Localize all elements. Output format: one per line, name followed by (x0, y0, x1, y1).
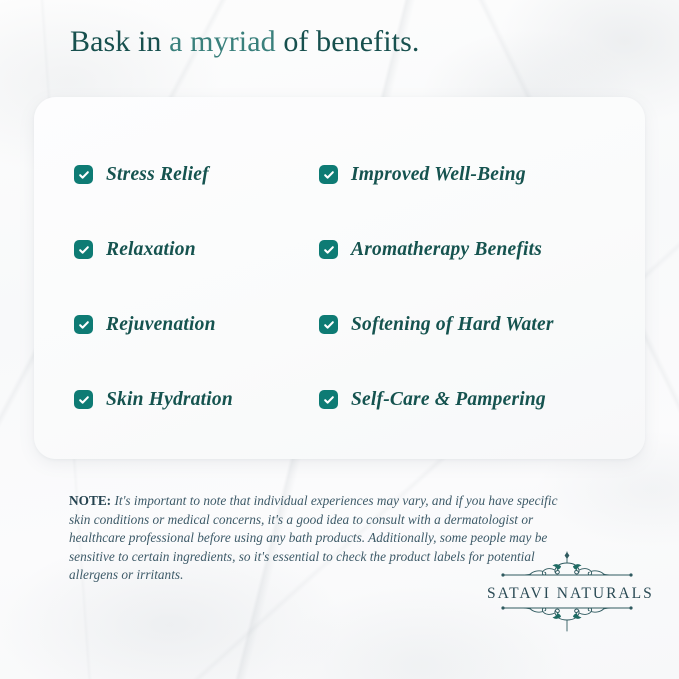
check-mark-icon (74, 165, 93, 184)
check-mark-icon (74, 240, 93, 259)
benefit-label: Self-Care & Pampering (351, 389, 546, 411)
note-label: NOTE: (69, 493, 111, 508)
scroll-flourish-icon (487, 550, 647, 585)
page-title-accent: a myriad (169, 25, 276, 58)
check-mark-icon (319, 315, 338, 334)
check-mark-icon (319, 390, 338, 409)
page-title: Bask in a myriad of benefits. (70, 22, 420, 62)
benefit-label: Skin Hydration (106, 389, 233, 411)
benefit-item-self-care-pampering: Self-Care & Pampering (319, 362, 614, 437)
note-body: It's important to note that individual e… (69, 493, 557, 582)
benefit-item-skin-hydration: Skin Hydration (74, 362, 319, 437)
benefit-item-relaxation: Relaxation (74, 212, 319, 287)
benefit-label: Stress Relief (106, 164, 209, 186)
benefit-item-stress-relief: Stress Relief (74, 137, 319, 212)
benefits-grid: Stress Relief Improved Well-Being Relaxa… (74, 137, 614, 437)
benefit-label: Aromatherapy Benefits (351, 239, 542, 261)
check-mark-icon (74, 390, 93, 409)
page-title-part-2: of benefits. (276, 25, 420, 58)
benefit-label: Rejuvenation (106, 314, 216, 336)
benefit-label: Improved Well-Being (351, 164, 526, 186)
poster-canvas: Bask in a myriad of benefits. Stress Rel… (0, 0, 679, 679)
benefit-label: Softening of Hard Water (351, 314, 554, 336)
benefit-item-improved-well-being: Improved Well-Being (319, 137, 614, 212)
benefit-label: Relaxation (106, 239, 196, 261)
brand-logo: SATAVI NATURALS (487, 550, 647, 638)
benefits-card: Stress Relief Improved Well-Being Relaxa… (34, 97, 645, 459)
benefit-item-aromatherapy-benefits: Aromatherapy Benefits (319, 212, 614, 287)
benefit-item-softening-of-hard-water: Softening of Hard Water (319, 287, 614, 362)
benefit-item-rejuvenation: Rejuvenation (74, 287, 319, 362)
check-mark-icon (74, 315, 93, 334)
brand-name: SATAVI NATURALS (487, 586, 647, 602)
check-mark-icon (319, 165, 338, 184)
page-title-part-1: Bask in (70, 25, 169, 58)
scroll-flourish-icon (487, 603, 647, 638)
check-mark-icon (319, 240, 338, 259)
